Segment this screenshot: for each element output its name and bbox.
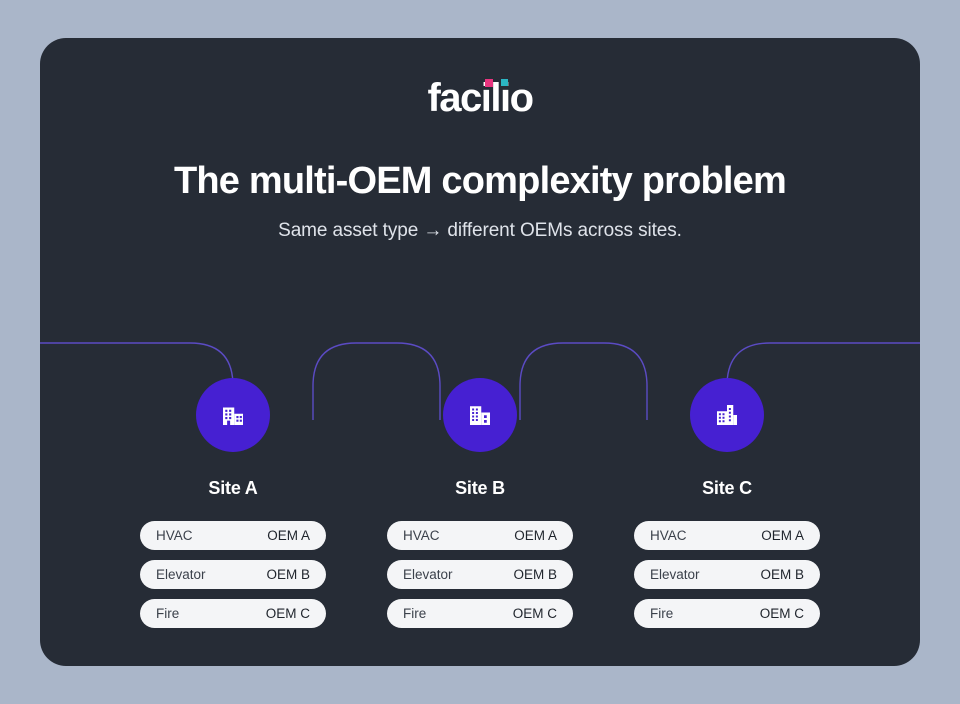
oem-name: OEM B — [266, 567, 310, 582]
sites-row: Site A HVAC OEM A Elevator OEM B Fire OE… — [40, 378, 920, 628]
oem-name: OEM C — [513, 606, 557, 621]
asset-name: HVAC — [650, 528, 687, 543]
building-icon — [218, 400, 248, 430]
site-label: Site C — [702, 478, 752, 499]
logo-pink-dot-icon — [485, 79, 493, 87]
slide-card: facilio The multi-OEM complexity problem… — [40, 38, 920, 666]
asset-oem-row[interactable]: Fire OEM C — [387, 599, 573, 628]
oem-name: OEM B — [513, 567, 557, 582]
facilio-logo-text: facilio — [427, 76, 532, 120]
oem-name: OEM A — [761, 528, 804, 543]
asset-oem-list: HVAC OEM A Elevator OEM B Fire OEM C — [140, 521, 326, 628]
asset-oem-row[interactable]: HVAC OEM A — [140, 521, 326, 550]
asset-name: Fire — [403, 606, 426, 621]
page-title: The multi-OEM complexity problem — [40, 160, 920, 204]
site-icon-badge[interactable] — [196, 378, 270, 452]
asset-name: HVAC — [156, 528, 193, 543]
asset-name: HVAC — [403, 528, 440, 543]
slide-header: facilio The multi-OEM complexity problem… — [40, 38, 920, 242]
asset-name: Elevator — [650, 567, 700, 582]
site-column: Site C HVAC OEM A Elevator OEM B Fire OE… — [634, 378, 820, 628]
site-label: Site B — [455, 478, 505, 499]
asset-name: Fire — [650, 606, 673, 621]
asset-oem-row[interactable]: HVAC OEM A — [387, 521, 573, 550]
oem-name: OEM C — [266, 606, 310, 621]
asset-oem-row[interactable]: Elevator OEM B — [634, 560, 820, 589]
site-label: Site A — [208, 478, 257, 499]
site-icon-badge[interactable] — [690, 378, 764, 452]
building-icon — [465, 400, 495, 430]
asset-oem-row[interactable]: Fire OEM C — [634, 599, 820, 628]
oem-name: OEM A — [267, 528, 310, 543]
oem-name: OEM B — [760, 567, 804, 582]
oem-name: OEM C — [760, 606, 804, 621]
site-column: Site B HVAC OEM A Elevator OEM B Fire OE… — [387, 378, 573, 628]
page-subtitle: Same asset type → different OEMs across … — [40, 220, 920, 242]
asset-oem-row[interactable]: Elevator OEM B — [387, 560, 573, 589]
logo-teal-dot-icon — [501, 79, 508, 86]
asset-name: Elevator — [156, 567, 206, 582]
asset-oem-row[interactable]: Fire OEM C — [140, 599, 326, 628]
asset-name: Fire — [156, 606, 179, 621]
asset-oem-row[interactable]: Elevator OEM B — [140, 560, 326, 589]
asset-oem-row[interactable]: HVAC OEM A — [634, 521, 820, 550]
facilio-logo: facilio — [427, 78, 532, 118]
asset-name: Elevator — [403, 567, 453, 582]
asset-oem-list: HVAC OEM A Elevator OEM B Fire OEM C — [634, 521, 820, 628]
oem-name: OEM A — [514, 528, 557, 543]
building-icon — [712, 400, 742, 430]
site-column: Site A HVAC OEM A Elevator OEM B Fire OE… — [140, 378, 326, 628]
asset-oem-list: HVAC OEM A Elevator OEM B Fire OEM C — [387, 521, 573, 628]
site-icon-badge[interactable] — [443, 378, 517, 452]
